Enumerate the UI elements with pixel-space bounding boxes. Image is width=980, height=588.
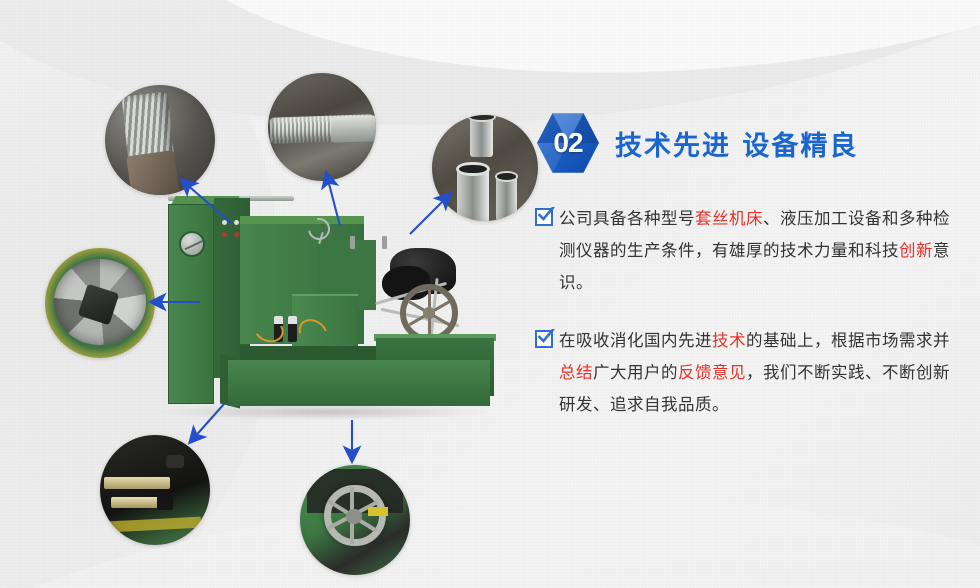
plain-text: 广大用户的 bbox=[593, 363, 678, 382]
product-photo-area: 瑞捷机械 bbox=[0, 0, 520, 588]
section-number: 02 bbox=[537, 112, 599, 174]
promo-banner: 瑞捷机械 bbox=[0, 0, 980, 588]
pressure-gauge-icon bbox=[179, 231, 205, 257]
plain-text: 公司具备各种型号 bbox=[559, 209, 695, 228]
section-headline: 技术先进 设备精良 bbox=[615, 124, 858, 163]
checkbox-checked-icon bbox=[535, 330, 553, 348]
highlighted-term: 套丝机床 bbox=[695, 209, 763, 228]
air-filter-bottle-2 bbox=[288, 316, 297, 342]
highlighted-term: 创新 bbox=[899, 241, 933, 260]
callout-threaded-bar-detail[interactable] bbox=[268, 73, 376, 181]
control-button-white-2 bbox=[234, 220, 239, 225]
spindle-collar-2 bbox=[382, 236, 387, 249]
feature-item: 在吸收消化国内先进技术的基础上，根据市场需求并总结广大用户的反馈意见，我们不断实… bbox=[535, 325, 965, 421]
control-button-red bbox=[222, 232, 227, 237]
highlighted-term: 总结 bbox=[559, 363, 593, 382]
handwheel-hub bbox=[423, 307, 435, 319]
spindle-collar-1 bbox=[350, 236, 355, 249]
highlighted-term: 反馈意见 bbox=[678, 363, 746, 382]
content-column: 02 技术先进 设备精良 公司具备各种型号套丝机床、液压加工设备和多种检测仪器的… bbox=[505, 0, 980, 588]
section-title: 02 技术先进 设备精良 bbox=[537, 112, 858, 174]
control-button-white bbox=[222, 220, 227, 225]
callout-hydraulic-fittings-detail[interactable] bbox=[100, 435, 210, 545]
section-number-badge: 02 bbox=[537, 112, 599, 174]
plain-text: 在吸收消化国内先进 bbox=[559, 331, 712, 350]
feature-item: 公司具备各种型号套丝机床、液压加工设备和多种检测仪器的生产条件，有雄厚的技术力量… bbox=[535, 203, 965, 299]
callout-die-head-chuck-detail[interactable] bbox=[45, 248, 155, 358]
callout-threaded-rod-detail[interactable] bbox=[105, 85, 215, 195]
machine-illustration: 瑞捷机械 bbox=[168, 196, 488, 411]
feature-text: 公司具备各种型号套丝机床、液压加工设备和多种检测仪器的生产条件，有雄厚的技术力量… bbox=[559, 203, 965, 299]
highlighted-term: 技术 bbox=[712, 331, 746, 350]
machine-cabinet-door bbox=[168, 204, 214, 404]
checkbox-checked-icon bbox=[535, 208, 553, 226]
control-button-red-2 bbox=[234, 232, 239, 237]
callout-handwheel-detail[interactable] bbox=[300, 465, 410, 575]
feature-list: 公司具备各种型号套丝机床、液压加工设备和多种检测仪器的生产条件，有雄厚的技术力量… bbox=[535, 203, 965, 447]
feature-text: 在吸收消化国内先进技术的基础上，根据市场需求并总结广大用户的反馈意见，我们不断实… bbox=[559, 325, 965, 421]
plain-text: 的基础上，根据市场需求并 bbox=[746, 331, 950, 350]
machine-base bbox=[228, 360, 490, 406]
